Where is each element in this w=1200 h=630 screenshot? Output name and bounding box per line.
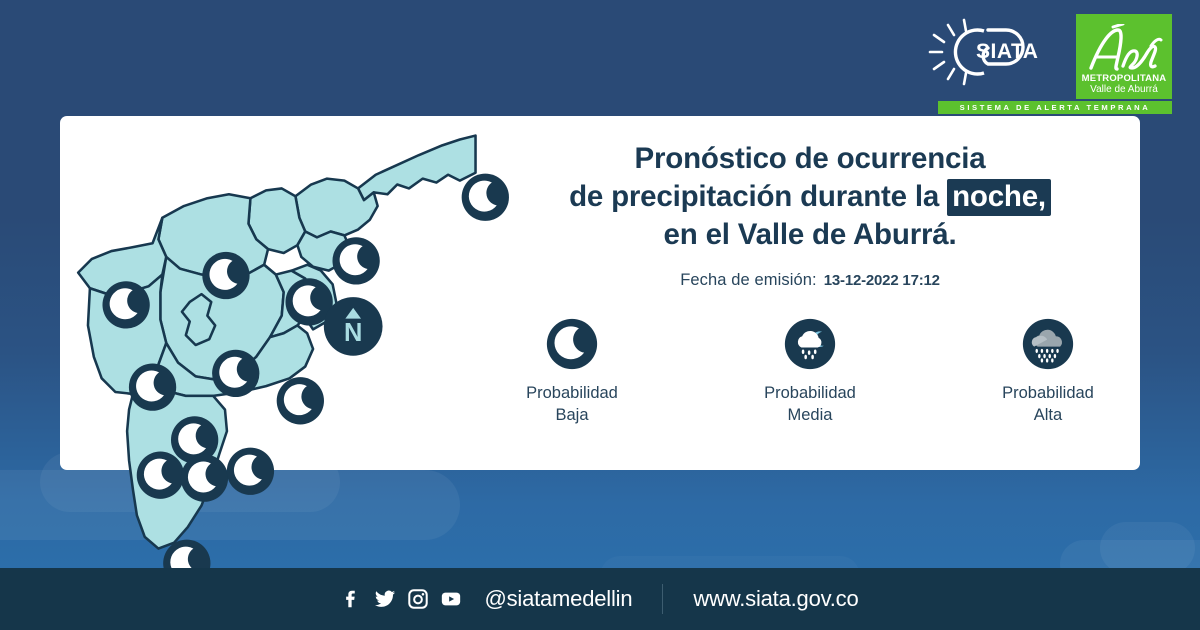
area-script-mark xyxy=(1085,24,1163,74)
emission-date-value: 13-12-2022 17:12 xyxy=(824,272,940,289)
legend-media-line2: Media xyxy=(764,405,856,426)
legend-item-baja[interactable]: Probabilidad Baja xyxy=(497,318,647,426)
map-marker-8[interactable] xyxy=(277,377,324,424)
social-handle[interactable]: @siatamedellin xyxy=(484,586,632,612)
twitter-icon[interactable] xyxy=(374,588,396,610)
legend-baja-line1: Probabilidad xyxy=(526,383,618,404)
forecast-panel: Pronóstico de ocurrencia de precipitació… xyxy=(480,140,1140,426)
legend-label-media: Probabilidad Media xyxy=(764,383,856,426)
background-cloud-right-top xyxy=(1100,522,1195,574)
footer-bar: @siatamedellin www.siata.gov.co xyxy=(0,568,1200,630)
footer-divider xyxy=(662,584,663,614)
alerta-temprana-bar: SISTEMA DE ALERTA TEMPRANA xyxy=(938,101,1172,114)
map-marker-6[interactable] xyxy=(129,363,176,410)
title-line-1: Pronóstico de ocurrencia xyxy=(480,140,1140,178)
emission-date-label: Fecha de emisión: xyxy=(680,271,817,290)
map-marker-3[interactable] xyxy=(202,252,249,299)
moon-icon xyxy=(546,318,598,370)
map-marker-2[interactable] xyxy=(332,237,379,284)
legend-media-line1: Probabilidad xyxy=(764,383,856,404)
municipality-barbosa xyxy=(358,136,475,201)
instagram-icon[interactable] xyxy=(407,588,429,610)
compass-north-label: N xyxy=(344,319,362,347)
title-line-2: de precipitación durante la noche, xyxy=(480,178,1140,216)
valle-de-aburra-map: N xyxy=(60,116,480,576)
cloud-heavy-rain-icon xyxy=(1022,318,1074,370)
legend-alta-line2: Alta xyxy=(1002,405,1094,426)
compass-badge: N xyxy=(324,297,383,356)
legend-item-alta[interactable]: Probabilidad Alta xyxy=(973,318,1123,426)
siata-logo: SIATA xyxy=(926,16,1054,88)
website-url[interactable]: www.siata.gov.co xyxy=(693,586,858,612)
map-svg: N xyxy=(60,116,480,576)
area-valle-text: Valle de Aburrá xyxy=(1090,84,1158,96)
facebook-icon[interactable] xyxy=(341,588,363,610)
social-links xyxy=(341,588,462,610)
page-title: Pronóstico de ocurrencia de precipitació… xyxy=(480,140,1140,253)
probability-legend: Probabilidad Baja Probabilidad Media xyxy=(480,318,1140,426)
map-marker-7[interactable] xyxy=(212,350,259,397)
legend-label-baja: Probabilidad Baja xyxy=(526,383,618,426)
map-municipalities xyxy=(78,136,475,549)
title-line-2-text: de precipitación durante la xyxy=(569,180,939,213)
siata-wordmark: SIATA xyxy=(976,40,1038,63)
map-marker-12[interactable] xyxy=(227,448,274,495)
area-metropolitana-text: METROPOLITANA xyxy=(1082,74,1167,84)
map-marker-5[interactable] xyxy=(102,281,149,328)
title-line-3: en el Valle de Aburrá. xyxy=(480,216,1140,254)
cloud-moon-rain-icon xyxy=(784,318,836,370)
youtube-icon[interactable] xyxy=(440,588,462,610)
legend-baja-line2: Baja xyxy=(526,405,618,426)
title-highlight-noche: noche, xyxy=(947,179,1051,216)
legend-label-alta: Probabilidad Alta xyxy=(1002,383,1094,426)
map-marker-11[interactable] xyxy=(181,454,228,501)
emission-date-row: Fecha de emisión: 13-12-2022 17:12 xyxy=(480,271,1140,290)
legend-item-media[interactable]: Probabilidad Media xyxy=(735,318,885,426)
logo-bar: SIATA METROPOLITANA Valle de Aburrá SIST… xyxy=(926,14,1172,114)
area-metropolitana-logo: METROPOLITANA Valle de Aburrá xyxy=(1076,14,1172,99)
map-marker-10[interactable] xyxy=(137,452,184,499)
legend-alta-line1: Probabilidad xyxy=(1002,383,1094,404)
